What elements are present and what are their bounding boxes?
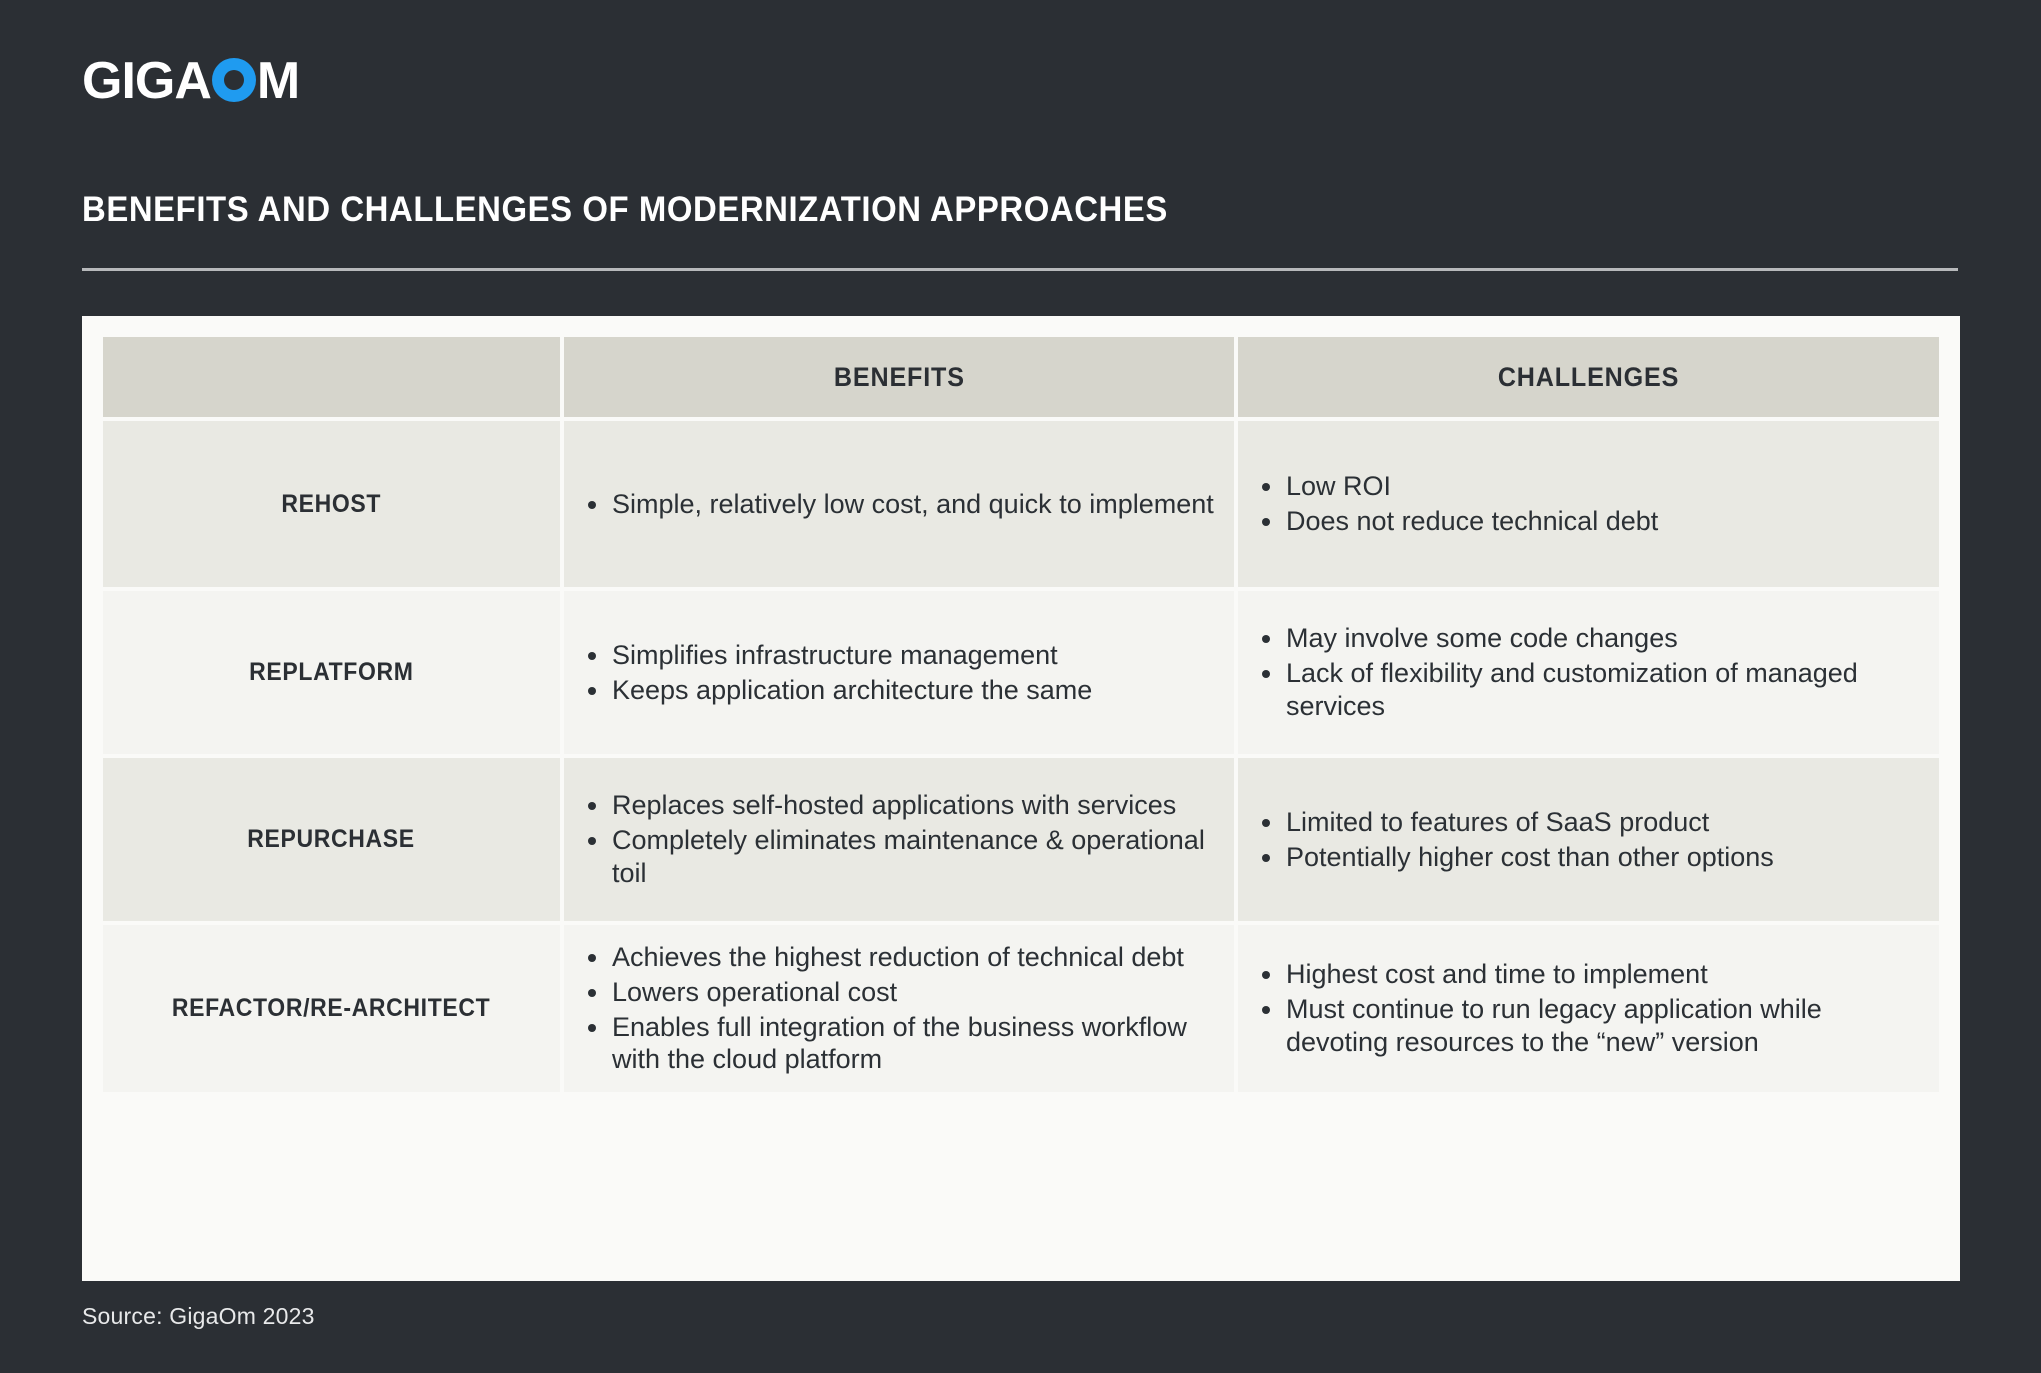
list-item: Limited to features of SaaS product: [1256, 806, 1921, 839]
benefits-cell: Simplifies infrastructure management Kee…: [564, 591, 1234, 754]
logo-text-giga: GIGA: [82, 55, 211, 107]
list-item: Completely eliminates maintenance & oper…: [582, 824, 1216, 890]
page-title: BENEFITS AND CHALLENGES OF MODERNIZATION…: [82, 190, 1168, 230]
table-header-benefits: BENEFITS: [564, 337, 1234, 417]
benefits-list: Simple, relatively low cost, and quick t…: [582, 488, 1216, 521]
list-item: Achieves the highest reduction of techni…: [582, 941, 1216, 974]
list-item: Potentially higher cost than other optio…: [1256, 841, 1921, 874]
list-item: Low ROI: [1256, 470, 1921, 503]
challenges-cell: Highest cost and time to implement Must …: [1238, 925, 1939, 1092]
source-caption: Source: GigaOm 2023: [82, 1303, 315, 1330]
approach-label: REFACTOR/RE-ARCHITECT: [172, 994, 490, 1023]
table-row: REFACTOR/RE-ARCHITECT: [103, 925, 560, 1092]
benefits-list: Achieves the highest reduction of techni…: [582, 941, 1216, 1077]
challenges-list: May involve some code changes Lack of fl…: [1256, 622, 1921, 723]
benefits-cell: Replaces self-hosted applications with s…: [564, 758, 1234, 921]
approach-label: REPLATFORM: [249, 658, 413, 687]
challenges-cell: Limited to features of SaaS product Pote…: [1238, 758, 1939, 921]
column-header-label: BENEFITS: [834, 362, 965, 393]
benefits-list: Replaces self-hosted applications with s…: [582, 789, 1216, 890]
table-header-challenges: CHALLENGES: [1238, 337, 1939, 417]
list-item: Lack of flexibility and customization of…: [1256, 657, 1921, 723]
gigaom-logo: GIGAM: [82, 55, 299, 107]
benefits-cell: Achieves the highest reduction of techni…: [564, 925, 1234, 1092]
list-item: Does not reduce technical debt: [1256, 505, 1921, 538]
infographic-page: GIGAM BENEFITS AND CHALLENGES OF MODERNI…: [0, 0, 2041, 1373]
list-item: Highest cost and time to implement: [1256, 958, 1921, 991]
column-header-label: CHALLENGES: [1498, 362, 1679, 393]
challenges-cell: Low ROI Does not reduce technical debt: [1238, 421, 1939, 587]
list-item: Replaces self-hosted applications with s…: [582, 789, 1216, 822]
list-item: Must continue to run legacy application …: [1256, 993, 1921, 1059]
benefits-cell: Simple, relatively low cost, and quick t…: [564, 421, 1234, 587]
list-item: Enables full integration of the business…: [582, 1011, 1216, 1077]
list-item: Simplifies infrastructure management: [582, 639, 1216, 672]
list-item: Keeps application architecture the same: [582, 674, 1216, 707]
list-item: Lowers operational cost: [582, 976, 1216, 1009]
challenges-cell: May involve some code changes Lack of fl…: [1238, 591, 1939, 754]
benefits-list: Simplifies infrastructure management Kee…: [582, 639, 1216, 707]
approach-label: REHOST: [282, 490, 382, 519]
approach-label: REPURCHASE: [248, 825, 415, 854]
table-card: BENEFITS CHALLENGES REHOST Simple, relat…: [82, 316, 1960, 1281]
table-header-corner: [103, 337, 560, 417]
logo-o-icon: [212, 58, 256, 102]
challenges-list: Low ROI Does not reduce technical debt: [1256, 470, 1921, 538]
list-item: Simple, relatively low cost, and quick t…: [582, 488, 1216, 521]
comparison-table: BENEFITS CHALLENGES REHOST Simple, relat…: [103, 337, 1939, 1260]
list-item: May involve some code changes: [1256, 622, 1921, 655]
table-row: REHOST: [103, 421, 560, 587]
table-row: REPLATFORM: [103, 591, 560, 754]
challenges-list: Limited to features of SaaS product Pote…: [1256, 806, 1921, 874]
challenges-list: Highest cost and time to implement Must …: [1256, 958, 1921, 1059]
logo-text-m: M: [257, 55, 299, 107]
table-row: REPURCHASE: [103, 758, 560, 921]
title-divider: [82, 268, 1958, 271]
